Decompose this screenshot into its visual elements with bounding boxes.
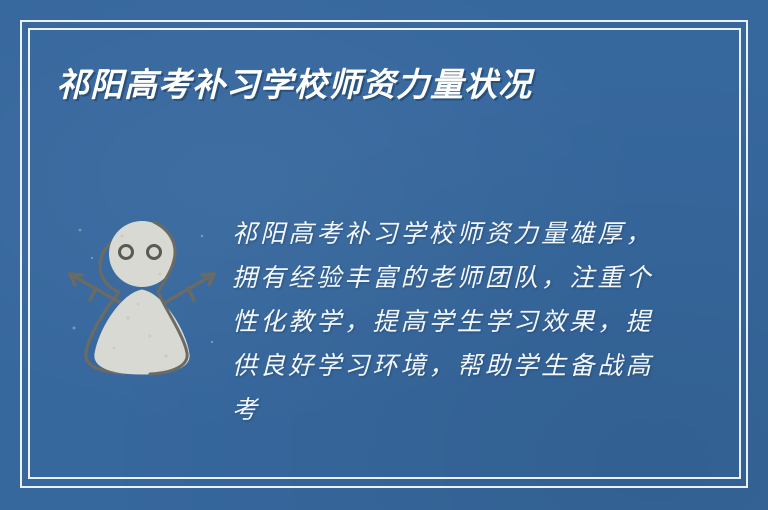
poster-canvas: 祁阳高考补习学校师资力量状况 — [0, 0, 768, 510]
body-paragraph: 祁阳高考补习学校师资力量雄厚，拥有经验丰富的老师团队，注重个性化教学，提高学生学… — [232, 212, 652, 432]
page-title: 祁阳高考补习学校师资力量状况 — [56, 64, 696, 105]
snowman-illustration — [62, 196, 222, 376]
